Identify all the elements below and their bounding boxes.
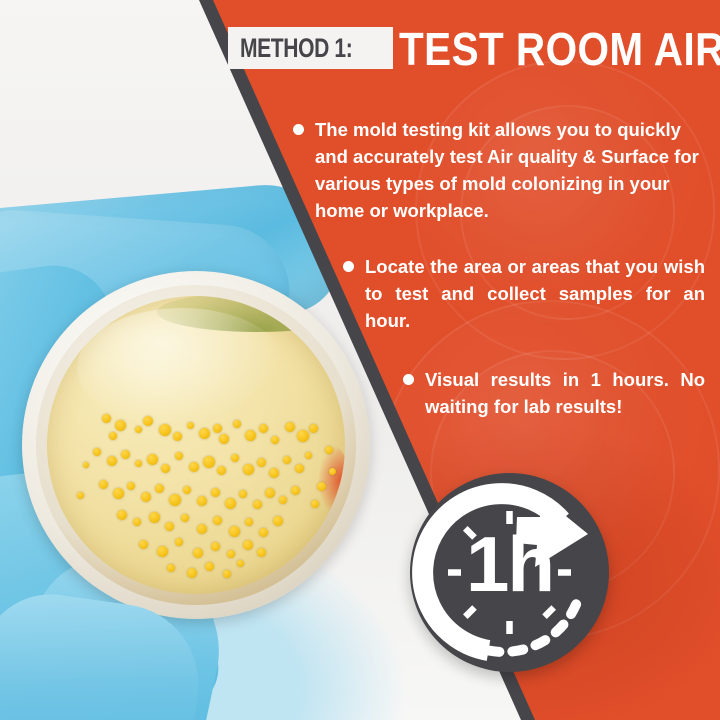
bullet-item-3: Visual results in 1 hours. No waiting fo… — [403, 366, 705, 420]
badge-duration-label: 1h — [410, 525, 609, 603]
mold-colony — [181, 514, 189, 522]
mold-colony — [231, 454, 239, 462]
mold-colony — [297, 430, 309, 442]
mold-colony — [102, 414, 111, 423]
mold-colony — [193, 548, 203, 558]
mold-colony — [155, 484, 164, 493]
mold-colony — [317, 482, 326, 491]
mold-colony — [229, 526, 240, 537]
poster-root: METHOD 1: TEST ROOM AIR The mold testing… — [0, 0, 720, 720]
mold-colony — [133, 518, 141, 526]
mold-colony — [203, 456, 215, 468]
mold-colony — [189, 462, 199, 472]
mold-colony — [187, 568, 197, 578]
bullet-dot-icon — [293, 124, 304, 135]
bullet-text-2: Locate the area or areas that you wish t… — [365, 253, 705, 334]
mold-colony — [117, 510, 127, 520]
mold-colony — [305, 452, 312, 459]
mold-colony — [167, 564, 175, 572]
mold-colony — [213, 424, 222, 433]
mold-colony — [223, 570, 231, 578]
mold-colony — [143, 416, 153, 426]
one-hour-badge: 1h — [410, 473, 609, 672]
mold-colony — [283, 456, 291, 464]
mold-colony — [217, 466, 226, 475]
mold-colony — [121, 450, 130, 459]
mold-colony — [295, 464, 304, 473]
mold-colony — [259, 528, 268, 537]
mold-colony — [127, 482, 135, 490]
mold-colony — [183, 486, 191, 494]
mold-colony — [169, 494, 181, 506]
mold-colony — [269, 468, 279, 478]
mold-colony — [139, 540, 148, 549]
mold-colony — [187, 422, 194, 429]
mold-colony — [233, 420, 241, 428]
mold-colony — [243, 464, 254, 475]
mold-colony — [311, 500, 319, 508]
mold-colony — [161, 464, 170, 473]
mold-colony — [253, 500, 262, 509]
mold-colony — [239, 490, 247, 498]
petri-dish-agar — [47, 296, 345, 594]
mold-colony — [225, 498, 236, 509]
mold-colony — [173, 432, 182, 441]
mold-colony — [257, 458, 266, 467]
mold-colony — [109, 432, 117, 440]
mold-colony — [147, 454, 158, 465]
mold-colony — [245, 518, 253, 526]
mold-colony — [197, 496, 207, 506]
mold-colony — [165, 522, 174, 531]
mold-colony — [205, 562, 214, 571]
method-label: METHOD 1: — [240, 31, 352, 65]
mold-colony — [99, 480, 108, 489]
mold-colony — [265, 488, 275, 498]
mold-colony — [279, 496, 287, 504]
bullet-dot-icon — [403, 374, 414, 385]
mold-colony — [159, 424, 171, 436]
bullet-dot-icon — [343, 261, 354, 272]
mold-colony — [219, 434, 229, 444]
mold-colony — [199, 428, 210, 439]
mold-colony — [245, 430, 256, 441]
mold-colony — [93, 448, 101, 456]
mold-colony — [329, 468, 336, 475]
agar-red-reflection — [319, 446, 345, 516]
mold-colony — [213, 516, 222, 525]
mold-colony — [149, 512, 160, 523]
mold-colony — [175, 538, 183, 546]
mold-colony — [325, 446, 333, 454]
agar-highlight — [77, 308, 287, 428]
mold-colony — [243, 540, 253, 550]
mold-colony — [83, 462, 89, 468]
mold-colony — [157, 546, 168, 557]
mold-colony — [257, 548, 266, 557]
mold-colony — [115, 420, 126, 431]
mold-colony — [273, 516, 283, 526]
mold-colony — [77, 492, 84, 499]
mold-colony — [107, 456, 117, 466]
mold-colony — [227, 550, 235, 558]
mold-colony — [309, 424, 318, 433]
mold-colony — [113, 488, 124, 499]
mold-colony — [291, 486, 300, 495]
mold-colony — [211, 488, 220, 497]
mold-colony — [237, 560, 244, 567]
mold-colony — [197, 524, 207, 534]
bullet-item-2: Locate the area or areas that you wish t… — [343, 253, 705, 334]
mold-colony — [135, 460, 142, 467]
bullet-item-1: The mold testing kit allows you to quick… — [293, 116, 701, 224]
mold-colony — [259, 424, 268, 433]
page-title: TEST ROOM AIR — [399, 24, 720, 74]
bullet-text-3: Visual results in 1 hours. No waiting fo… — [425, 366, 705, 420]
mold-colony — [285, 422, 295, 432]
mold-colony — [141, 492, 151, 502]
mold-colony — [271, 436, 279, 444]
bullet-text-1: The mold testing kit allows you to quick… — [315, 116, 701, 224]
mold-colony — [211, 542, 220, 551]
mold-colony — [175, 452, 183, 460]
mold-colony — [135, 426, 142, 433]
